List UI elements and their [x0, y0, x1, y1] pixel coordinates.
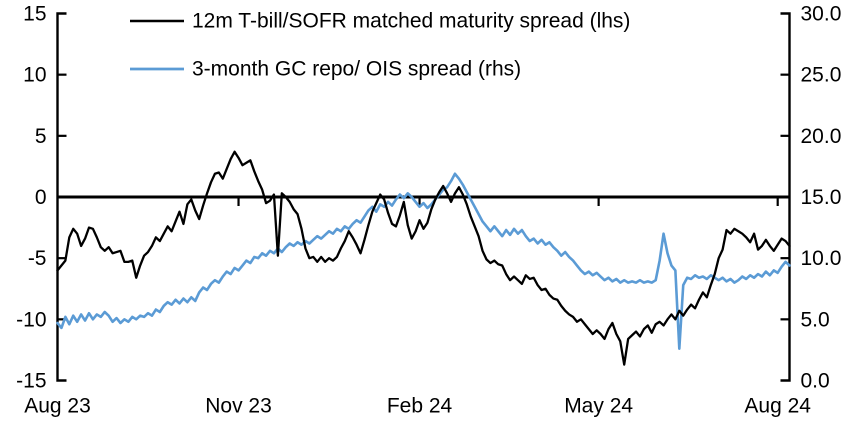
left-axis-tick-label: -10 [16, 308, 46, 331]
x-axis-tick-label: Aug 24 [744, 395, 811, 418]
left-axis-tick-labels: 151050-5-10-15 [16, 3, 46, 393]
chart-canvas: 151050-5-10-15 30.025.020.015.010.05.00.… [0, 0, 852, 432]
legend-label-tbill-sofr: 12m T-bill/SOFR matched maturity spread … [192, 10, 630, 33]
left-axis-tick-label: 0 [35, 186, 47, 209]
right-axis-tick-label: 30.0 [801, 3, 842, 26]
chart-container: 151050-5-10-15 30.025.020.015.010.05.00.… [0, 0, 852, 432]
right-axis-tick-label: 15.0 [801, 186, 842, 209]
left-axis-tick-label: -5 [28, 247, 47, 270]
series-line-gc-repo-ois [58, 174, 790, 349]
right-axis-tick-label: 25.0 [801, 64, 842, 87]
right-axis-tick-label: 10.0 [801, 247, 842, 270]
right-axis-tick-label: 20.0 [801, 125, 842, 148]
right-axis-tick-label: 0.0 [801, 370, 830, 393]
x-axis-tick-labels: Aug 23Nov 23Feb 24May 24Aug 24 [24, 395, 811, 418]
x-axis-tick-label: Feb 24 [387, 395, 453, 418]
chart-legend: 12m T-bill/SOFR matched maturity spread … [130, 10, 630, 81]
left-axis-tick-label: -15 [16, 370, 46, 393]
right-axis-tick-labels: 30.025.020.015.010.05.00.0 [801, 3, 842, 393]
x-axis-tick-label: May 24 [564, 395, 633, 418]
legend-label-gc-repo-ois: 3-month GC repo/ OIS spread (rhs) [192, 58, 521, 81]
right-axis-tick-label: 5.0 [801, 308, 830, 331]
x-axis-tick-label: Nov 23 [205, 395, 272, 418]
left-axis-tick-label: 15 [23, 3, 46, 26]
left-axis-tick-label: 5 [35, 125, 47, 148]
left-axis-tick-label: 10 [23, 64, 46, 87]
x-axis-tick-label: Aug 23 [24, 395, 91, 418]
